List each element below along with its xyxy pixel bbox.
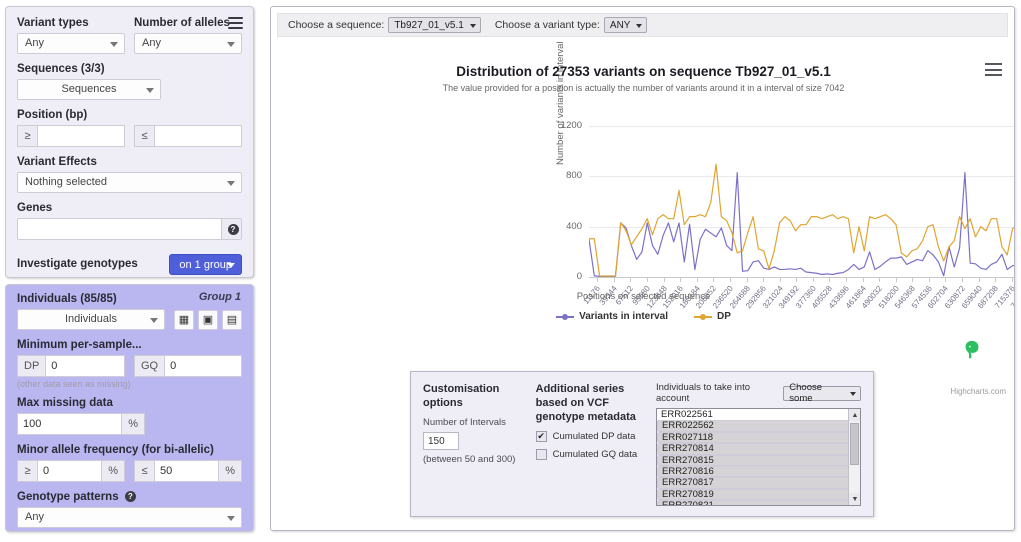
series-checkbox-group: ✔Cumulated DP dataCumulated GQ data <box>536 431 640 460</box>
highcharts-credit: Highcharts.com <box>950 387 1006 396</box>
x-axis-line <box>589 277 1015 278</box>
chevron-down-icon <box>110 42 118 47</box>
x-axis-tick <box>747 277 748 282</box>
sequences-label: Sequences (3/3) <box>17 63 242 76</box>
dp-field[interactable]: DP <box>17 355 125 377</box>
max-missing-data-field[interactable]: % <box>17 413 145 435</box>
maf-min-prefix: ≥ <box>17 460 37 482</box>
x-axis-title: Positions on selected sequence <box>271 291 1015 302</box>
individuals-select[interactable]: Individuals <box>17 309 165 330</box>
elephant-icon <box>961 339 983 361</box>
number-of-alleles-label: Number of alleles <box>134 17 242 30</box>
x-axis-tick <box>597 277 598 282</box>
variant-types-value: Any <box>25 33 44 54</box>
variant-effects-select[interactable]: Nothing selected <box>17 172 242 193</box>
genotype-patterns-label: Genotype patterns <box>17 491 119 503</box>
choose-some-select[interactable]: Choose some <box>783 386 861 401</box>
investigate-genotypes-label: Investigate genotypes <box>17 258 138 271</box>
maf-min-input[interactable] <box>37 460 102 482</box>
left-sidebar: Variant types Any Number of alleles Any … <box>0 0 262 542</box>
save-icon[interactable]: ▦ <box>174 310 194 330</box>
maf-min-field[interactable]: ≥ % <box>17 460 125 482</box>
legend-item[interactable]: Variants in interval <box>556 311 668 322</box>
on-group-button[interactable]: on 1 group <box>169 254 242 275</box>
variant-type-select-value: ANY <box>610 20 631 31</box>
list-item[interactable]: ERR022561 <box>657 409 850 420</box>
chart-subtitle: The value provided for a position is act… <box>271 83 1015 93</box>
series-checkbox-row[interactable]: ✔Cumulated DP data <box>536 431 640 442</box>
scrollbar-thumb[interactable] <box>850 423 859 465</box>
individuals-listbox[interactable]: ERR022561ERR022562ERR027118ERR270814ERR2… <box>656 408 861 506</box>
genes-field[interactable]: ? <box>17 218 242 240</box>
x-axis-tick <box>664 277 665 282</box>
maf-max-prefix: ≤ <box>134 460 154 482</box>
x-axis-tick <box>614 277 615 282</box>
chevron-down-icon <box>150 318 158 323</box>
customisation-options-title: Customisation options <box>423 382 520 410</box>
variant-types-select[interactable]: Any <box>17 33 125 54</box>
individuals-account-label: Individuals to take into account <box>656 382 777 404</box>
x-axis-tick <box>863 277 864 282</box>
hamburger-icon[interactable] <box>985 63 1002 76</box>
chart-title: Distribution of 27353 variants on sequen… <box>271 64 1015 79</box>
variant-type-chooser-label: Choose a variant type: <box>495 19 600 31</box>
genes-input[interactable] <box>17 218 242 240</box>
chart-panel: Choose a sequence: Tb927_01_v5.1 Choose … <box>270 6 1015 531</box>
individuals-value: Individuals <box>65 309 117 330</box>
chevron-down-icon <box>470 24 476 28</box>
group-label: Group 1 <box>199 291 241 303</box>
variant-effects-label: Variant Effects <box>17 156 242 169</box>
position-min-input[interactable] <box>37 125 125 147</box>
variant-types-label: Variant types <box>17 17 125 30</box>
series-lines <box>589 101 1015 277</box>
chart-toolbar: Choose a sequence: Tb927_01_v5.1 Choose … <box>277 13 1008 37</box>
import-icon[interactable]: ▣ <box>198 310 218 330</box>
checkbox-label: Cumulated DP data <box>553 431 636 442</box>
genes-label: Genes <box>17 202 242 215</box>
maf-label: Minor allele frequency (for bi-allelic) <box>17 444 242 457</box>
x-axis-tick <box>780 277 781 282</box>
app-root: Variant types Any Number of alleles Any … <box>0 0 1021 542</box>
individuals-list-items: ERR022561ERR022562ERR027118ERR270814ERR2… <box>657 409 850 506</box>
variant-type-select[interactable]: ANY <box>604 17 648 33</box>
list-item[interactable]: ERR270817 <box>657 477 850 488</box>
dp-prefix: DP <box>17 355 45 377</box>
minimum-per-sample-label: Minimum per-sample... <box>17 339 242 352</box>
position-label: Position (bp) <box>17 109 242 122</box>
scroll-up-icon[interactable]: ▲ <box>849 409 861 421</box>
position-max-field[interactable]: ≤ <box>134 125 242 147</box>
legend-label: Variants in interval <box>579 311 668 322</box>
position-min-prefix: ≥ <box>17 125 37 147</box>
checkbox-checked-icon[interactable]: ✔ <box>536 431 547 442</box>
x-axis-tick <box>995 277 996 282</box>
number-of-alleles-select[interactable]: Any <box>134 33 242 54</box>
x-axis-tick <box>813 277 814 282</box>
sequences-select[interactable]: Sequences <box>17 79 161 100</box>
legend-marker <box>556 312 574 322</box>
question-icon[interactable]: ? <box>221 219 241 239</box>
checkbox-label: Cumulated GQ data <box>553 449 638 460</box>
x-axis-tick <box>763 277 764 282</box>
x-axis-tick <box>829 277 830 282</box>
plot-region: Number of variants in interval Cumulated… <box>589 101 1015 277</box>
choose-some-value: Choose some <box>789 382 844 404</box>
x-axis-tick <box>896 277 897 282</box>
sequence-select[interactable]: Tb927_01_v5.1 <box>388 17 481 33</box>
chevron-down-icon <box>227 42 235 47</box>
dp-input[interactable] <box>45 355 125 377</box>
chevron-down-icon <box>227 181 235 186</box>
maf-max-input[interactable] <box>154 460 219 482</box>
variant-filter-panel: Variant types Any Number of alleles Any … <box>5 6 254 278</box>
x-axis-tick <box>979 277 980 282</box>
on-group-button-label: on 1 group <box>179 259 232 271</box>
y-axis-left-tick: 400 <box>566 222 582 232</box>
chevron-down-icon <box>227 263 235 268</box>
list-item[interactable]: ERR270815 <box>657 455 850 466</box>
gq-field[interactable]: GQ <box>134 355 242 377</box>
x-axis-tick <box>730 277 731 282</box>
position-max-prefix: ≤ <box>134 125 154 147</box>
y-axis-left-tick: 1200 <box>561 121 582 131</box>
legend-item[interactable]: DP <box>694 311 731 322</box>
y-axis-left-tick: 800 <box>566 171 582 181</box>
x-axis-tick <box>713 277 714 282</box>
sequence-select-value: Tb927_01_v5.1 <box>394 20 464 31</box>
chevron-down-icon <box>146 88 154 93</box>
number-of-alleles-value: Any <box>142 33 161 54</box>
x-axis-tick <box>630 277 631 282</box>
hamburger-icon[interactable] <box>228 17 243 29</box>
position-max-input[interactable] <box>154 125 242 147</box>
customisation-options-panel: Customisation options Number of Interval… <box>410 371 874 517</box>
x-axis-tick <box>945 277 946 282</box>
checkbox-icon[interactable] <box>536 449 547 460</box>
percent-unit: % <box>122 413 145 435</box>
x-axis-tick <box>912 277 913 282</box>
x-axis-tick <box>879 277 880 282</box>
genotype-patterns-select[interactable]: Any <box>17 507 242 528</box>
sequence-chooser[interactable]: Choose a sequence: Tb927_01_v5.1 <box>288 17 481 33</box>
maf-min-unit: % <box>102 460 125 482</box>
sequences-value: Sequences <box>61 79 116 100</box>
x-axis-tick <box>929 277 930 282</box>
x-axis-tick <box>680 277 681 282</box>
x-axis-tick <box>697 277 698 282</box>
additional-series-title: Additional series based on VCF genotype … <box>536 382 640 424</box>
scroll-down-icon[interactable]: ▼ <box>849 493 861 505</box>
y-axis-left-title: Number of variants in interval <box>555 41 566 165</box>
number-of-intervals-input[interactable] <box>423 432 459 450</box>
x-axis-tick <box>846 277 847 282</box>
gq-prefix: GQ <box>134 355 164 377</box>
list-item[interactable]: ERR022562 <box>657 420 850 431</box>
chevron-down-icon <box>227 516 235 521</box>
list-item[interactable]: ERR270821 <box>657 500 850 506</box>
legend-marker <box>694 312 712 322</box>
chevron-down-icon <box>636 24 642 28</box>
intervals-hint: (between 50 and 300) <box>423 454 520 465</box>
variant-effects-value: Nothing selected <box>25 172 107 193</box>
gq-input[interactable] <box>164 355 242 377</box>
chevron-down-icon <box>850 392 856 396</box>
x-axis-tick <box>962 277 963 282</box>
x-axis-tick <box>796 277 797 282</box>
chart-area: Distribution of 27353 variants on sequen… <box>271 39 1015 369</box>
list-item[interactable]: ERR270814 <box>657 443 850 454</box>
list-item[interactable]: ERR270816 <box>657 466 850 477</box>
max-missing-data-input[interactable] <box>17 413 122 435</box>
intervals-label: Number of Intervals <box>423 417 520 428</box>
missing-data-hint: (other data seen as missing) <box>17 379 242 389</box>
maf-max-unit: % <box>219 460 242 482</box>
position-min-field[interactable]: ≥ <box>17 125 125 147</box>
list-item[interactable]: ERR027118 <box>657 432 850 443</box>
listbox-scrollbar[interactable]: ▲ ▼ <box>848 409 860 505</box>
series-checkbox-row[interactable]: Cumulated GQ data <box>536 449 640 460</box>
question-icon[interactable]: ? <box>125 491 136 502</box>
individuals-account-header: Individuals to take into account Choose … <box>656 382 861 404</box>
export-icon[interactable]: ▤ <box>222 310 242 330</box>
series-line <box>589 101 1015 276</box>
sequence-chooser-label: Choose a sequence: <box>288 19 384 31</box>
variant-type-chooser[interactable]: Choose a variant type: ANY <box>495 17 648 33</box>
y-axis-left-tick: 0 <box>577 272 582 282</box>
x-axis-tick <box>1012 277 1013 282</box>
group-1-panel: Group 1 Individuals (85/85) Individuals … <box>5 284 254 532</box>
list-item[interactable]: ERR270819 <box>657 489 850 500</box>
genotype-patterns-value: Any <box>25 507 44 528</box>
chart-legend: Variants in intervalDP <box>271 311 1015 322</box>
x-axis-tick <box>647 277 648 282</box>
maf-max-field[interactable]: ≤ % <box>134 460 242 482</box>
max-missing-data-label: Max missing data <box>17 397 242 410</box>
legend-label: DP <box>717 311 731 322</box>
